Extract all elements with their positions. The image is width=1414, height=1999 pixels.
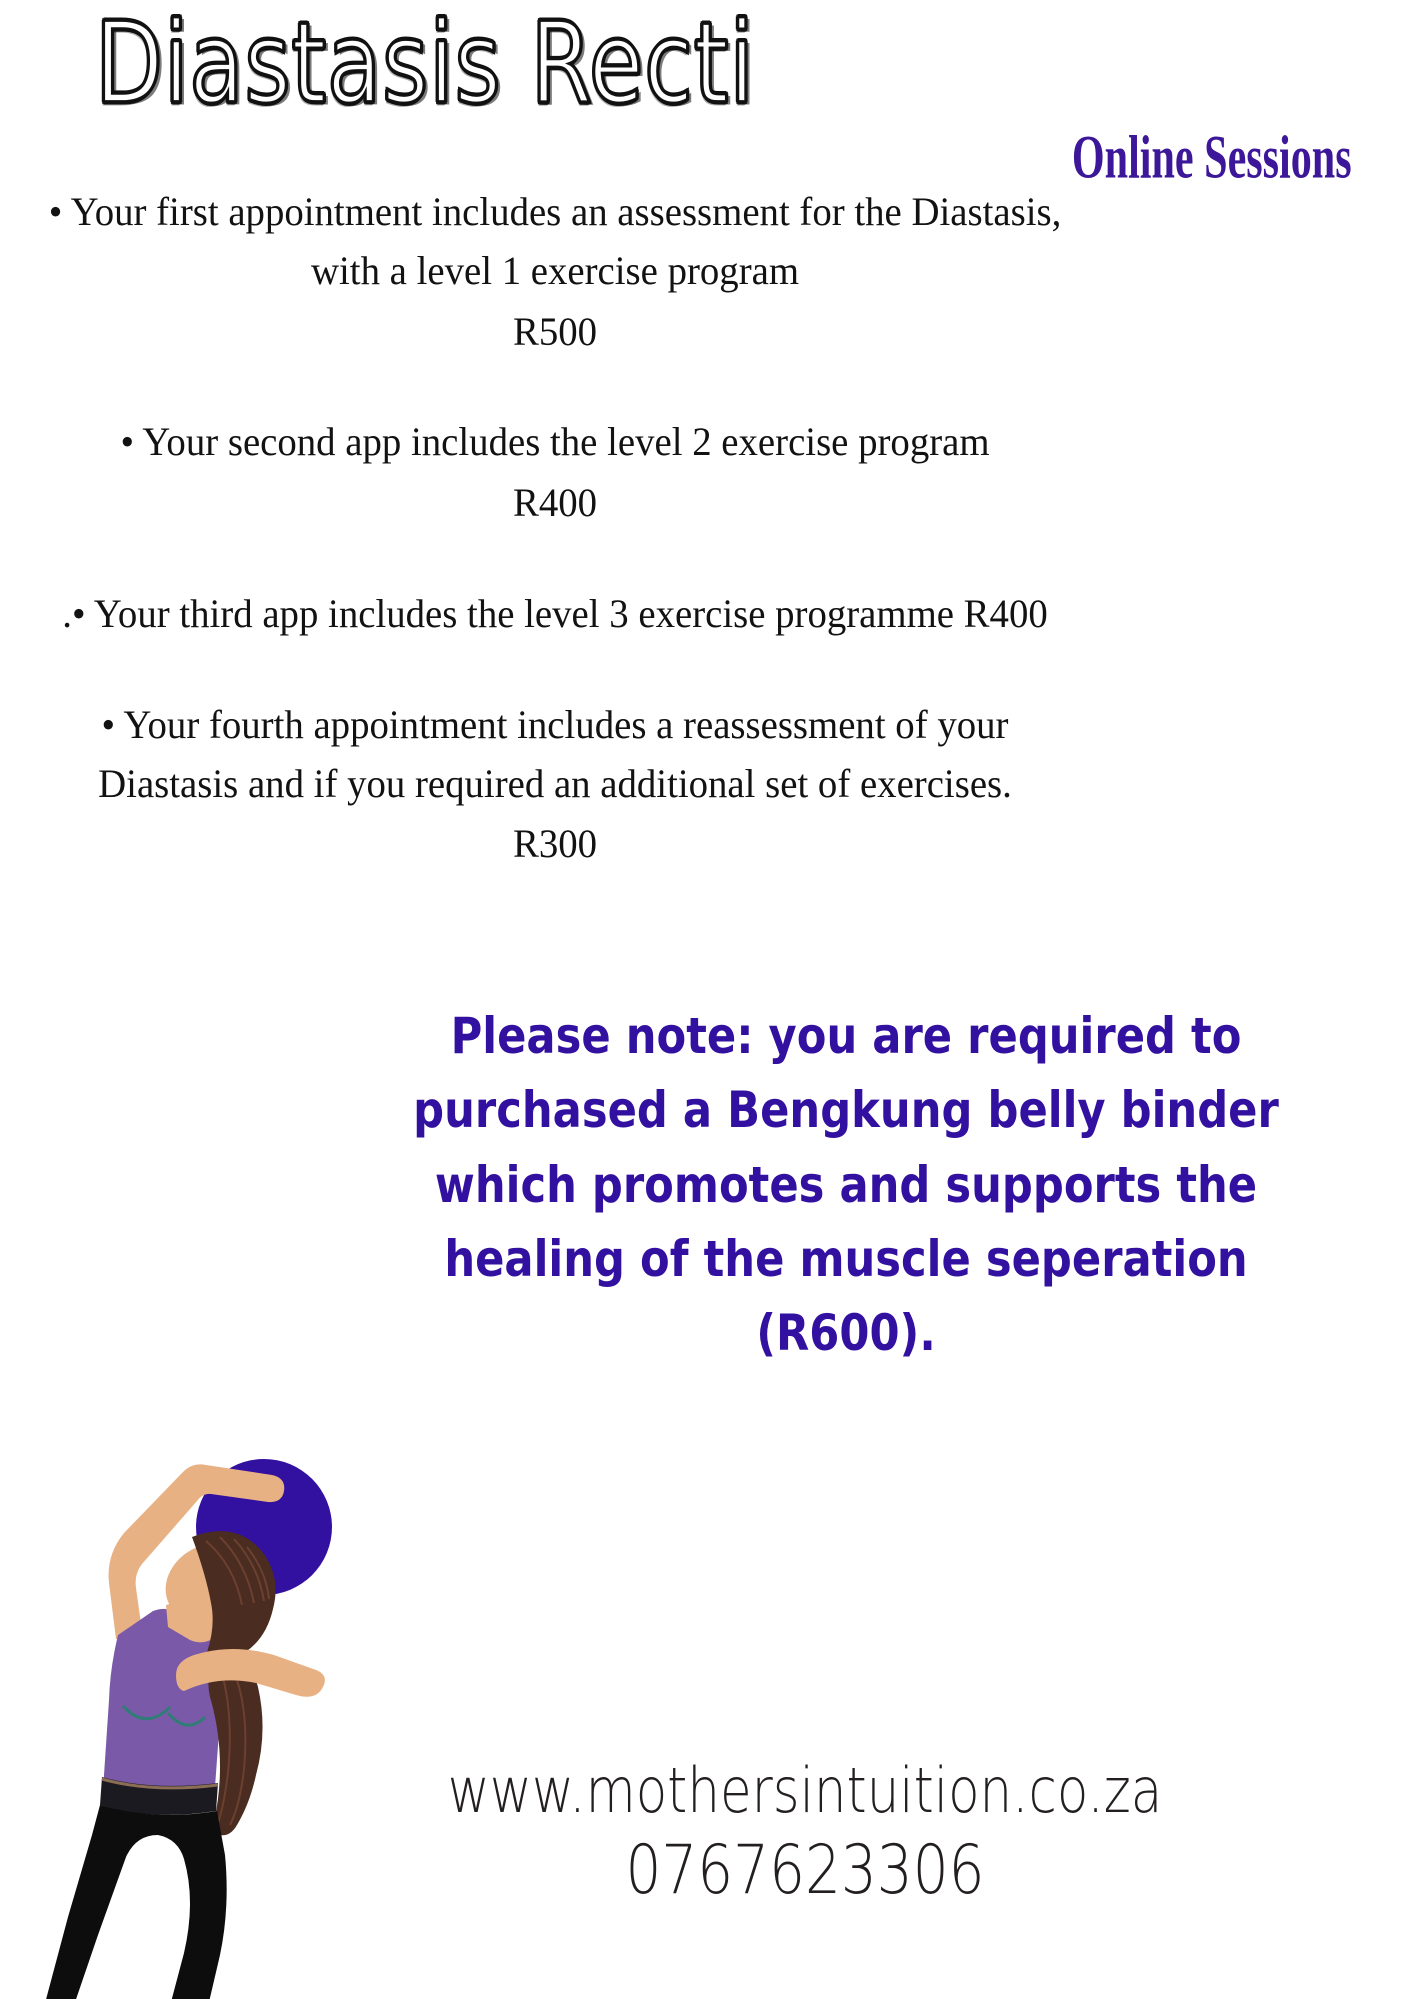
bullet-text: .• Your third app includes the level 3 e… (46, 585, 1065, 644)
please-note-block: Please note: you are required to purchas… (300, 1000, 1400, 1371)
note-line: Please note: you are required to (344, 998, 1349, 1077)
exercise-illustration (6, 1135, 376, 1999)
page-title: Diastasis Recti (95, 8, 755, 120)
bullet-price: R300 (46, 815, 1065, 874)
bullet-price: R400 (46, 474, 1065, 533)
list-item: • Your fourth appointment includes a rea… (30, 696, 1080, 874)
pricing-list: • Your first appointment includes an ass… (30, 183, 1080, 874)
note-line: purchased a Bengkung belly binder (344, 1072, 1349, 1151)
bullet-text: • Your fourth appointment includes a rea… (46, 696, 1065, 814)
phone-number[interactable]: 0767623306 (311, 1833, 1299, 1909)
list-item: • Your second app includes the level 2 e… (30, 413, 1080, 533)
note-line: which promotes and supports the (344, 1146, 1349, 1225)
poster-subtitle: Online Sessions (1072, 126, 1352, 188)
poster-header: Diastasis Recti Online Sessions (0, 0, 1414, 185)
website-url[interactable]: www.mothersintuition.co.za (311, 1758, 1299, 1823)
bullet-text: • Your first appointment includes an ass… (46, 183, 1065, 301)
list-item: • Your first appointment includes an ass… (30, 183, 1080, 361)
poster-footer: www.mothersintuition.co.za 0767623306 (210, 1758, 1400, 1909)
list-item: .• Your third app includes the level 3 e… (30, 585, 1080, 644)
note-line: healing of the muscle seperation (344, 1221, 1349, 1300)
leggings (44, 1805, 227, 1999)
bullet-price: R500 (46, 303, 1065, 362)
woman-with-exercise-ball-illustration (6, 1135, 376, 1999)
note-line: (R600). (344, 1295, 1349, 1374)
bullet-text: • Your second app includes the level 2 e… (46, 413, 1065, 472)
